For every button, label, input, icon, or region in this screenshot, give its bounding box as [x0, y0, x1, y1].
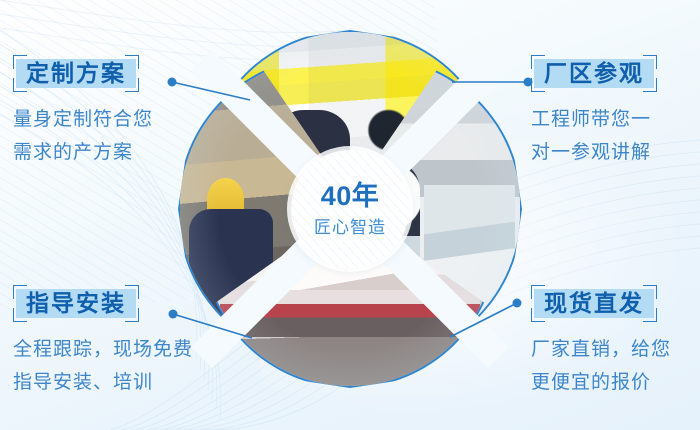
feature-block-installation-guidance: 指导安装 全程跟踪，现场免费 指导安装、培训 — [13, 285, 193, 400]
connector-dot-top-left — [168, 78, 177, 87]
bracket-bottom-left-icon — [13, 308, 27, 322]
connector-line-bottom-right — [450, 303, 517, 337]
advantages-banner: 40年 匠心智造 定制方案 量身定制符合您 需求的产方案 — [0, 0, 700, 430]
bracket-bottom-left-icon — [531, 78, 545, 92]
bracket-bottom-right-icon — [643, 78, 657, 92]
bracket-top-left-icon — [531, 285, 545, 299]
feature-description-line-1: 全程跟踪，现场免费 — [13, 334, 193, 367]
connector-dot-bottom-right — [513, 299, 522, 308]
bracket-top-left-icon — [13, 55, 27, 69]
feature-title-badge: 指导安装 — [13, 285, 139, 322]
bracket-top-right-icon — [643, 55, 657, 69]
feature-title-badge: 现货直发 — [531, 285, 657, 322]
bracket-bottom-left-icon — [13, 78, 27, 92]
feature-block-stock-shipping: 现货直发 厂家直销，给您 更便宜的报价 — [531, 285, 671, 400]
bracket-top-right-icon — [643, 285, 657, 299]
bracket-bottom-right-icon — [125, 308, 139, 322]
bracket-top-right-icon — [125, 55, 139, 69]
bracket-top-left-icon — [531, 55, 545, 69]
feature-description-line-2: 对一参观讲解 — [531, 137, 657, 170]
feature-title: 现货直发 — [544, 290, 644, 316]
bracket-bottom-left-icon — [531, 308, 545, 322]
bracket-bottom-right-icon — [125, 78, 139, 92]
feature-title: 指导安装 — [26, 290, 126, 316]
bracket-top-right-icon — [125, 285, 139, 299]
feature-title: 厂区参观 — [544, 60, 644, 86]
feature-block-factory-tour: 厂区参观 工程师带您一 对一参观讲解 — [531, 55, 657, 170]
bracket-top-left-icon — [13, 285, 27, 299]
feature-description: 工程师带您一 对一参观讲解 — [531, 104, 657, 169]
feature-description-line-2: 需求的产方案 — [13, 137, 153, 170]
bracket-bottom-right-icon — [643, 308, 657, 322]
feature-description: 量身定制符合您 需求的产方案 — [13, 104, 153, 169]
feature-description: 全程跟踪，现场免费 指导安装、培训 — [13, 334, 193, 399]
feature-title-badge: 厂区参观 — [531, 55, 657, 92]
feature-description-line-1: 厂家直销，给您 — [531, 334, 671, 367]
connector-line-top-left — [172, 82, 250, 100]
feature-block-custom-solution: 定制方案 量身定制符合您 需求的产方案 — [13, 55, 153, 170]
feature-description-line-1: 工程师带您一 — [531, 104, 657, 137]
feature-description-line-2: 更便宜的报价 — [531, 367, 671, 400]
feature-description: 厂家直销，给您 更便宜的报价 — [531, 334, 671, 399]
feature-description-line-2: 指导安装、培训 — [13, 367, 193, 400]
feature-description-line-1: 量身定制符合您 — [13, 104, 153, 137]
feature-title-badge: 定制方案 — [13, 55, 139, 92]
feature-title: 定制方案 — [26, 60, 126, 86]
